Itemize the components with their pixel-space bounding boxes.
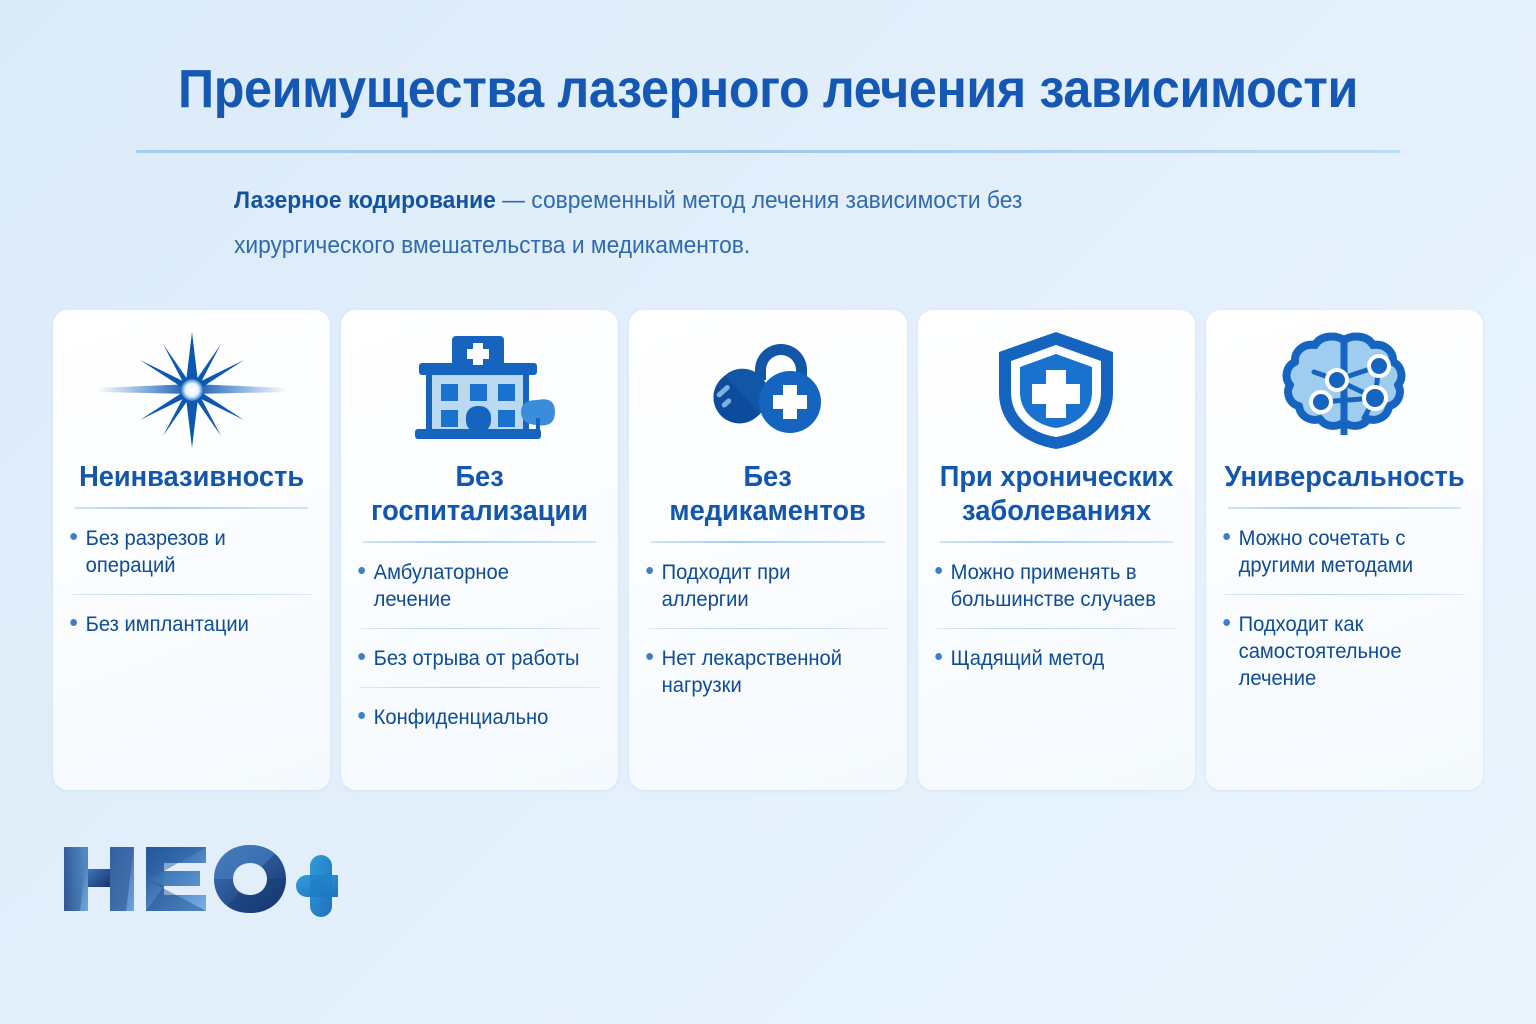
- list-item: Без разрезов и операций: [53, 509, 319, 579]
- bullet-text: Без имплантации: [86, 613, 249, 636]
- subtitle: Лазерное кодирование — современный метод…: [234, 178, 1184, 268]
- shield-cross-icon: [918, 310, 1195, 458]
- list-item: Щадящий метод: [918, 629, 1184, 672]
- bullet-text: Щадящий метод: [950, 647, 1104, 670]
- bullet-text: Можно применять в большинстве случаев: [950, 561, 1155, 611]
- card-heading: Без госпитализации: [350, 460, 611, 528]
- benefit-card-noninvasive[interactable]: Неинвазивность Без разрезов и операций Б…: [53, 310, 330, 790]
- bullet-text: Нет лекарственной нагрузки: [662, 647, 842, 697]
- bullet-dot: [358, 653, 365, 660]
- brain-network-icon: [1206, 310, 1483, 458]
- benefit-cards: Неинвазивность Без разрезов и операций Б…: [53, 310, 1483, 790]
- bullet-text: Конфиденциально: [374, 706, 549, 729]
- bullet-text: Амбулаторное лечение: [374, 561, 509, 611]
- bullet-dot: [935, 653, 942, 660]
- title-divider: [136, 150, 1400, 153]
- list-item: Подходит при аллергии: [629, 543, 895, 613]
- card-heading: Неинвазивность: [61, 460, 322, 494]
- bullet-text: Можно сочетать с другими методами: [1238, 527, 1412, 577]
- list-item: Подходит как самостоятельное лечение: [1206, 595, 1472, 692]
- card-heading: Универсальность: [1214, 460, 1475, 494]
- bullet-text: Без отрыва от работы: [374, 647, 580, 670]
- list-item: Без имплантации: [53, 595, 319, 638]
- list-item: Можно сочетать с другими методами: [1206, 509, 1472, 579]
- bullet-dot: [935, 567, 942, 574]
- bullet-list: Можно сочетать с другими методами Подход…: [1206, 509, 1483, 692]
- benefit-card-chronic-diseases[interactable]: При хронических заболеваниях Можно приме…: [918, 310, 1195, 790]
- subtitle-lead: Лазерное кодирование: [234, 187, 496, 214]
- list-item: Можно применять в большинстве случаев: [918, 543, 1184, 613]
- bullet-dot: [358, 567, 365, 574]
- bullet-list: Без разрезов и операций Без имплантации: [53, 509, 330, 638]
- list-item: Нет лекарственной нагрузки: [629, 629, 895, 699]
- bullet-dot: [1223, 533, 1230, 540]
- bullet-dot: [647, 567, 654, 574]
- bullet-list: Амбулаторное лечение Без отрыва от работ…: [341, 543, 618, 731]
- benefit-card-universality[interactable]: Универсальность Можно сочетать с другими…: [1206, 310, 1483, 790]
- list-item: Конфиденциально: [341, 688, 607, 731]
- bullet-dot: [70, 533, 77, 540]
- list-item: Без отрыва от работы: [341, 629, 607, 672]
- bullet-text: Без разрезов и операций: [86, 527, 226, 577]
- bullet-list: Подходит при аллергии Нет лекарственной …: [629, 543, 906, 699]
- bullet-dot: [70, 619, 77, 626]
- bullet-dot: [1223, 619, 1230, 626]
- pills-capsule-icon: [629, 310, 906, 458]
- list-item: Амбулаторное лечение: [341, 543, 607, 613]
- laser-burst-icon: [53, 310, 330, 458]
- bullet-dot: [358, 712, 365, 719]
- benefit-card-no-hospitalization[interactable]: Без госпитализации Амбулаторное лечение …: [341, 310, 618, 790]
- bullet-dot: [647, 653, 654, 660]
- card-heading: Без медикаментов: [638, 460, 899, 528]
- infographic-page: Преимущества лазерного лечения зависимос…: [0, 0, 1536, 1024]
- neo-plus-logo[interactable]: [58, 833, 338, 925]
- benefit-card-no-medication[interactable]: Без медикаментов Подходит при аллергии Н…: [629, 310, 906, 790]
- hospital-building-icon: [341, 310, 618, 458]
- page-title: Преимущества лазерного лечения зависимос…: [54, 58, 1482, 120]
- card-heading: При хронических заболеваниях: [926, 460, 1187, 528]
- bullet-text: Подходит при аллергии: [662, 561, 791, 611]
- bullet-list: Можно применять в большинстве случаев Ща…: [918, 543, 1195, 672]
- bullet-text: Подходит как самостоятельное лечение: [1238, 613, 1401, 690]
